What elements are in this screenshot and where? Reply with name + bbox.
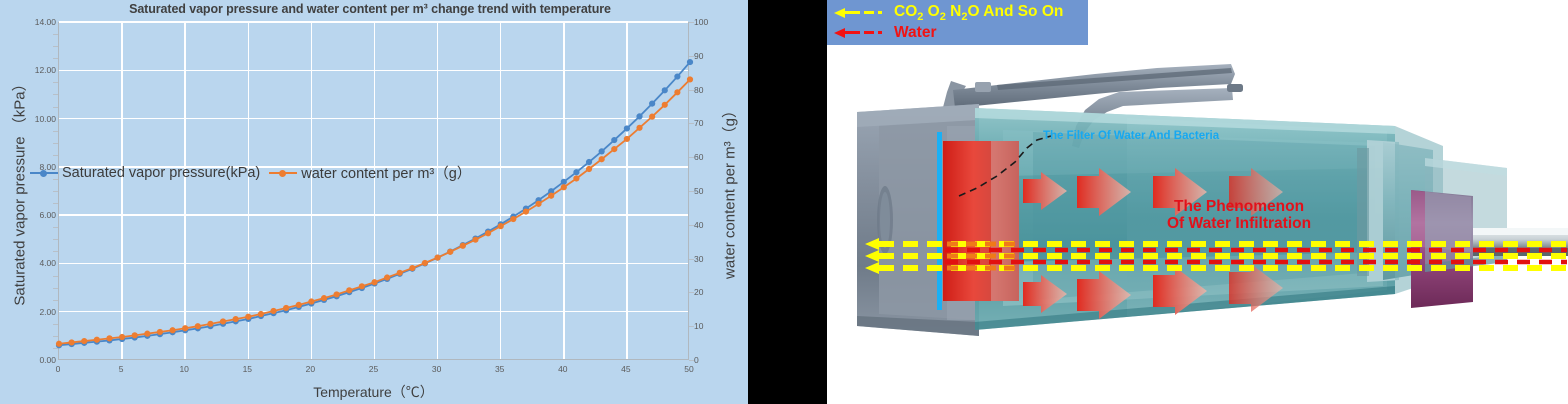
series-data-point (233, 316, 239, 322)
chart-plot-area (58, 22, 689, 360)
y-axis-tick-left: 0.00 (6, 355, 56, 365)
series-data-point (573, 175, 579, 181)
y-axis-tick-left: 10.00 (6, 114, 56, 124)
series-data-point (636, 125, 642, 131)
y-axis-minor-tick-right (689, 360, 694, 361)
series-data-point (195, 323, 201, 329)
flow-legend-box: CO2 O2 N2O And So On Water (827, 0, 1088, 45)
series-data-point (258, 311, 264, 317)
phenomenon-callout-line1: The Phenomenon (1167, 198, 1311, 215)
y-axis-minor-tick-left (53, 239, 58, 240)
chart-series-layer (59, 22, 690, 360)
series-data-point (561, 184, 567, 190)
series-data-point (144, 331, 150, 337)
y-axis-minor-tick-left (53, 131, 58, 132)
series-data-point (624, 136, 630, 142)
y-axis-tick-right: 60 (694, 152, 724, 162)
filter-callout-label: The Filter Of Water And Bacteria (1043, 130, 1219, 142)
series-data-point (674, 89, 680, 95)
device-diagram-panel: The Filter Of Water And Bacteria The Phe… (827, 0, 1568, 404)
y-axis-minor-tick-left (53, 276, 58, 277)
y-axis-minor-tick-left (53, 336, 58, 337)
series-data-point (573, 169, 579, 175)
y-axis-tick-left: 2.00 (6, 307, 56, 317)
series-data-point (611, 146, 617, 152)
series-data-point (460, 243, 466, 249)
x-axis-tick: 40 (558, 364, 567, 374)
y-axis-minor-tick-left (53, 143, 58, 144)
x-axis-tick: 25 (369, 364, 378, 374)
series-data-point (270, 308, 276, 314)
y-axis-tick-right: 0 (694, 355, 724, 365)
series-data-point (498, 223, 504, 229)
series-data-point (586, 166, 592, 172)
y-axis-minor-tick-left (53, 251, 58, 252)
y-axis-tick-left: 6.00 (6, 210, 56, 220)
series-data-point (649, 114, 655, 120)
y-axis-minor-tick-left (53, 58, 58, 59)
series-data-point (283, 305, 289, 311)
series-data-point (81, 338, 87, 344)
series-data-point (69, 339, 75, 345)
flow-dash-band (865, 238, 1567, 274)
x-axis-tick: 35 (495, 364, 504, 374)
x-axis-tick: 45 (621, 364, 630, 374)
vapor-pressure-chart-panel: Saturated vapor pressure and water conte… (0, 0, 748, 404)
series-data-point (624, 125, 630, 131)
series-data-point (245, 314, 251, 320)
y-axis-minor-tick-left (53, 155, 58, 156)
series-data-point (371, 279, 377, 285)
x-axis-label: Temperature（℃） (58, 382, 689, 402)
series-data-point (56, 341, 62, 347)
series-data-point (346, 287, 352, 293)
y-axis-minor-tick-left (53, 288, 58, 289)
series-data-point (687, 59, 693, 65)
y-axis-tick-right: 80 (694, 85, 724, 95)
series-line-water-content (59, 79, 690, 343)
phenomenon-callout-label: The Phenomenon Of Water Infiltration (1167, 198, 1311, 233)
x-axis-tick: 5 (119, 364, 124, 374)
series-data-point (384, 274, 390, 280)
series-data-point (132, 332, 138, 338)
chart-title: Saturated vapor pressure and water conte… (40, 2, 700, 16)
x-axis-tick: 0 (56, 364, 61, 374)
y-axis-minor-tick-left (53, 46, 58, 47)
series-data-point (687, 76, 693, 82)
y-axis-minor-tick-left (53, 107, 58, 108)
series-data-point (157, 329, 163, 335)
y-axis-minor-tick-left (53, 227, 58, 228)
series-data-point (334, 291, 340, 297)
series-data-point (308, 298, 314, 304)
y-axis-tick-right: 90 (694, 51, 724, 61)
series-data-point (321, 295, 327, 301)
series-data-point (106, 335, 112, 341)
series-data-point (119, 334, 125, 340)
y-axis-minor-tick-left (53, 94, 58, 95)
series-data-point (447, 249, 453, 255)
series-data-point (422, 260, 428, 266)
x-axis-tick: 10 (179, 364, 188, 374)
y-axis-tick-right: 100 (694, 17, 724, 27)
series-data-point (649, 101, 655, 107)
series-data-point (169, 327, 175, 333)
series-data-point (662, 87, 668, 93)
x-axis-tick: 15 (243, 364, 252, 374)
y-axis-tick-left: 12.00 (6, 65, 56, 75)
series-data-point (397, 270, 403, 276)
y-axis-minor-tick-left (53, 348, 58, 349)
leftward-dashed-arrow-water-icon (834, 27, 890, 40)
series-data-point (611, 137, 617, 143)
series-data-point (296, 302, 302, 308)
x-axis-tick: 30 (432, 364, 441, 374)
legend-marker-line-icon (30, 168, 58, 178)
flow-legend-label-gas: CO2 O2 N2O And So On (894, 3, 1063, 23)
y-axis-tick-right: 70 (694, 118, 724, 128)
series-data-point (548, 193, 554, 199)
series-data-point (207, 321, 213, 327)
screenshot-root: Saturated vapor pressure and water conte… (0, 0, 1568, 404)
series-data-point (586, 159, 592, 165)
y-axis-minor-tick-left (53, 203, 58, 204)
series-data-point (674, 73, 680, 79)
y-axis-minor-tick-left (53, 191, 58, 192)
series-line-vapor-pressure (59, 62, 690, 345)
filter-membrane-line (937, 132, 942, 310)
y-axis-minor-tick-left (53, 324, 58, 325)
flow-legend-label-water: Water (894, 24, 937, 42)
y-axis-label-left: Saturated vapor pressure （kPa） (9, 41, 30, 341)
flow-legend-row-gas: CO2 O2 N2O And So On (834, 3, 1063, 23)
series-data-point (472, 237, 478, 243)
y-axis-tick-left: 4.00 (6, 258, 56, 268)
series-data-point (662, 102, 668, 108)
y-axis-minor-tick-left (53, 34, 58, 35)
series-data-point (636, 113, 642, 119)
series-data-point (220, 318, 226, 324)
y-axis-tick-right: 50 (694, 186, 724, 196)
y-axis-tick-left: 14.00 (6, 17, 56, 27)
phenomenon-callout-line2: Of Water Infiltration (1167, 215, 1311, 232)
series-data-point (435, 254, 441, 260)
series-data-point (561, 179, 567, 185)
device-red-filter-block (937, 132, 1019, 310)
series-data-point (535, 201, 541, 207)
y-axis-minor-tick-left (53, 82, 58, 83)
y-axis-tick-right: 40 (694, 220, 724, 230)
series-data-point (523, 209, 529, 215)
x-axis-tick: 20 (306, 364, 315, 374)
series-data-point (485, 230, 491, 236)
series-data-point (94, 337, 100, 343)
y-axis-minor-tick-left (53, 300, 58, 301)
flow-legend-row-water: Water (834, 24, 937, 42)
series-data-point (510, 216, 516, 222)
series-data-point (599, 156, 605, 162)
series-data-point (409, 265, 415, 271)
x-axis-tick: 50 (684, 364, 693, 374)
y-axis-tick-right: 10 (694, 321, 724, 331)
leftward-dashed-arrow-gas-icon (834, 7, 890, 20)
series-data-point (359, 283, 365, 289)
y-axis-tick-right: 20 (694, 287, 724, 297)
series-data-point (599, 148, 605, 154)
series-data-point (182, 325, 188, 331)
y-axis-tick-right: 30 (694, 254, 724, 264)
